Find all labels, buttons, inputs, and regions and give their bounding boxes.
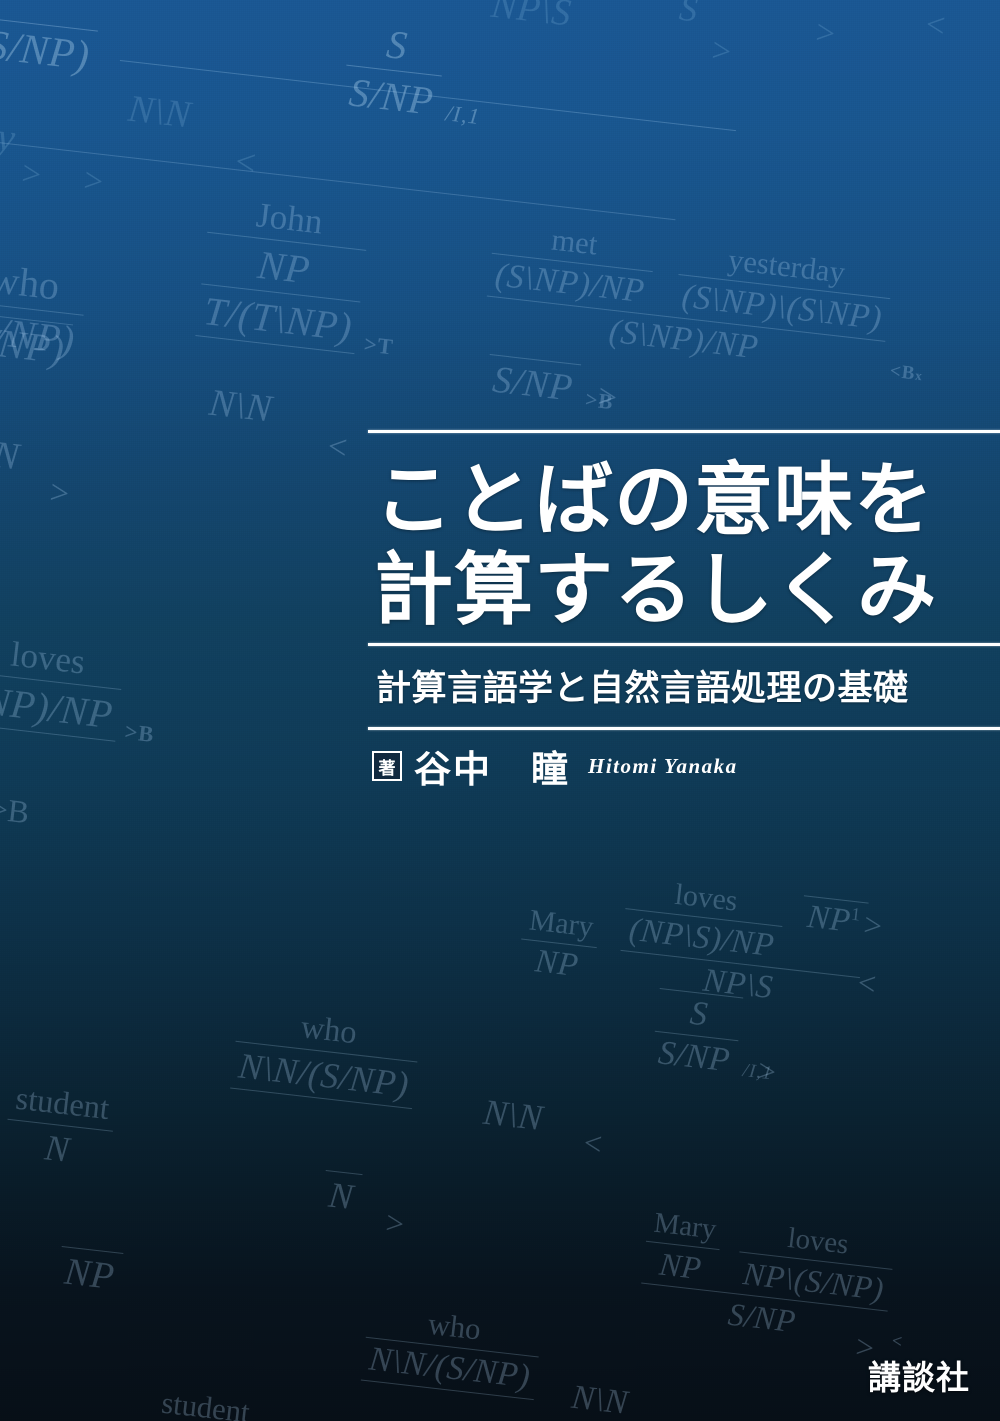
title-line-1: ことばの意味を — [374, 455, 1000, 545]
book-cover: (S/NP) S S/NP /I,1 N\N < y > > S > > < N — [0, 0, 1000, 1421]
ccg-rule-lt-leftmid: < — [326, 428, 349, 468]
ccg-fragment-s-snp-top: S S/NP /I,1 — [341, 16, 490, 130]
author-role-badge: 著 — [372, 751, 402, 781]
title-rule-top — [368, 430, 1000, 433]
ccg-fragment-student-bottom: student — [154, 1382, 258, 1421]
ccg-rule-lt-relclause: < — [582, 1124, 604, 1163]
subtitle: 計算言語学と自然言語処理の基礎 — [376, 660, 1000, 711]
title-rule-bottom — [368, 727, 1000, 730]
ccg-fragment-y-topleft: y — [0, 112, 24, 162]
author-name: 谷中 瞳 — [414, 739, 570, 793]
ccg-rule-gt-relclause: > — [384, 1204, 406, 1243]
ccg-rule-lt-maryloves: < — [856, 964, 878, 1003]
ccg-rule-gt-topright-2: > — [814, 14, 837, 54]
ccg-fragment-n-leftedge: N — [0, 432, 28, 480]
ccg-fragment-nn-topleft: N\N — [120, 86, 199, 138]
ccg-rule-gt-leftedge: > — [48, 474, 71, 514]
ccg-rule-lt-topright: < — [924, 6, 947, 46]
ccg-rule-gt-snp-i1: > — [756, 1052, 778, 1091]
ccg-rule-gt-topright-1: > — [710, 32, 733, 72]
ccg-rule-gt-left: > — [596, 378, 619, 418]
ccg-rule-gt-topleft-1: > — [20, 155, 43, 195]
publisher-logo: 講談社 — [868, 1351, 970, 1399]
ccg-derivation-john: John NP T/(T\NP) >T — [195, 190, 409, 360]
author-row: 著 谷中 瞳 Hitomi Yanaka — [372, 746, 1000, 786]
title-rule-middle — [368, 643, 1000, 646]
ccg-rule-gtb-leftlow: >B — [0, 790, 31, 831]
ccg-fragment-nn-relclause: N\N — [475, 1090, 551, 1140]
title-line-2: 計算するしくみ — [374, 545, 1000, 635]
author-name-romaji: Hitomi Yanaka — [588, 754, 738, 779]
page-title: ことばの意味を 計算するしくみ — [374, 455, 1000, 635]
ccg-fragment-snp-topleft: (S/NP) — [0, 14, 98, 81]
ccg-rule-gt-maryloves: > — [862, 906, 884, 945]
ccg-derivation-who-bottom: who N\N/(S/NP) — [361, 1300, 543, 1402]
ccg-fragment-nn-left: N\N — [201, 380, 280, 432]
ccg-fragment-np-relclause: NP — [56, 1244, 123, 1300]
ccg-derivation-loves-left: loves \NP)/NP >B — [0, 630, 164, 748]
title-block: ことばの意味を 計算するしくみ 計算言語学と自然言語処理の基礎 著 谷中 瞳 H… — [368, 430, 1000, 802]
ccg-derivation-student-who: student N — [2, 1080, 116, 1175]
ccg-fragment-nn-bottom: N\N — [564, 1378, 636, 1421]
ccg-rule-lt-topleft: < — [233, 140, 258, 184]
ccg-rule-gt-topleft-2: > — [82, 162, 105, 202]
ccg-fragment-n-relclause: N — [321, 1168, 363, 1219]
ccg-derivation-who-relclause: who N\N/(S/NP) — [230, 1002, 422, 1111]
ccg-fragment-nps-topright: NP\S — [483, 0, 580, 36]
ccg-fragment-s-topright: S — [671, 0, 706, 31]
